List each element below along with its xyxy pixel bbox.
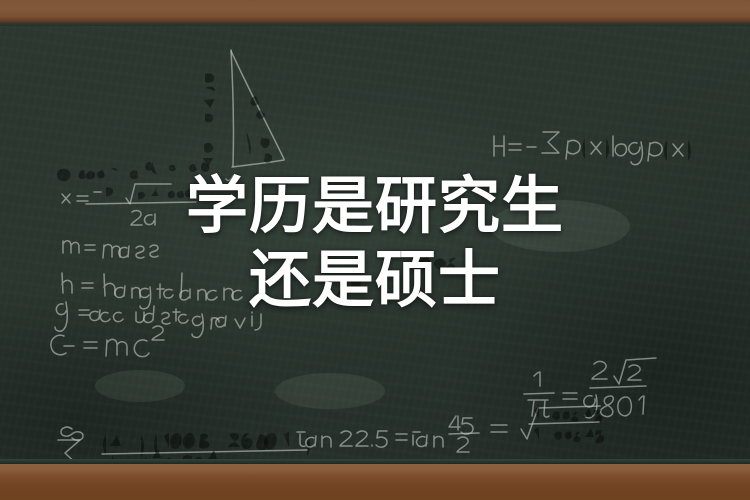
ramanujan-series-note — [57, 427, 310, 459]
height-change-definition-note — [62, 273, 242, 309]
image-canvas: 学历是研究生 还是硕士 — [0, 0, 750, 500]
frame-top-inner-edge — [0, 22, 750, 26]
triangle-diagram-icon — [203, 50, 284, 180]
wooden-frame-top — [0, 0, 750, 22]
pi-identity-note — [524, 358, 656, 418]
hyp-cos-labels-note — [320, 258, 456, 297]
entropy-formula-note — [494, 126, 691, 165]
chalkboard-surface — [0, 26, 750, 459]
energy-formula-note — [51, 326, 164, 357]
tan-half-angle-note — [297, 406, 604, 452]
quadratic-formula-note — [57, 162, 209, 225]
mass-definition-note — [63, 241, 158, 258]
chalk-writing-layer — [0, 26, 750, 459]
wooden-frame-bottom — [0, 464, 750, 500]
chalk-smudges — [95, 200, 630, 409]
gravity-definition-note — [55, 302, 261, 337]
